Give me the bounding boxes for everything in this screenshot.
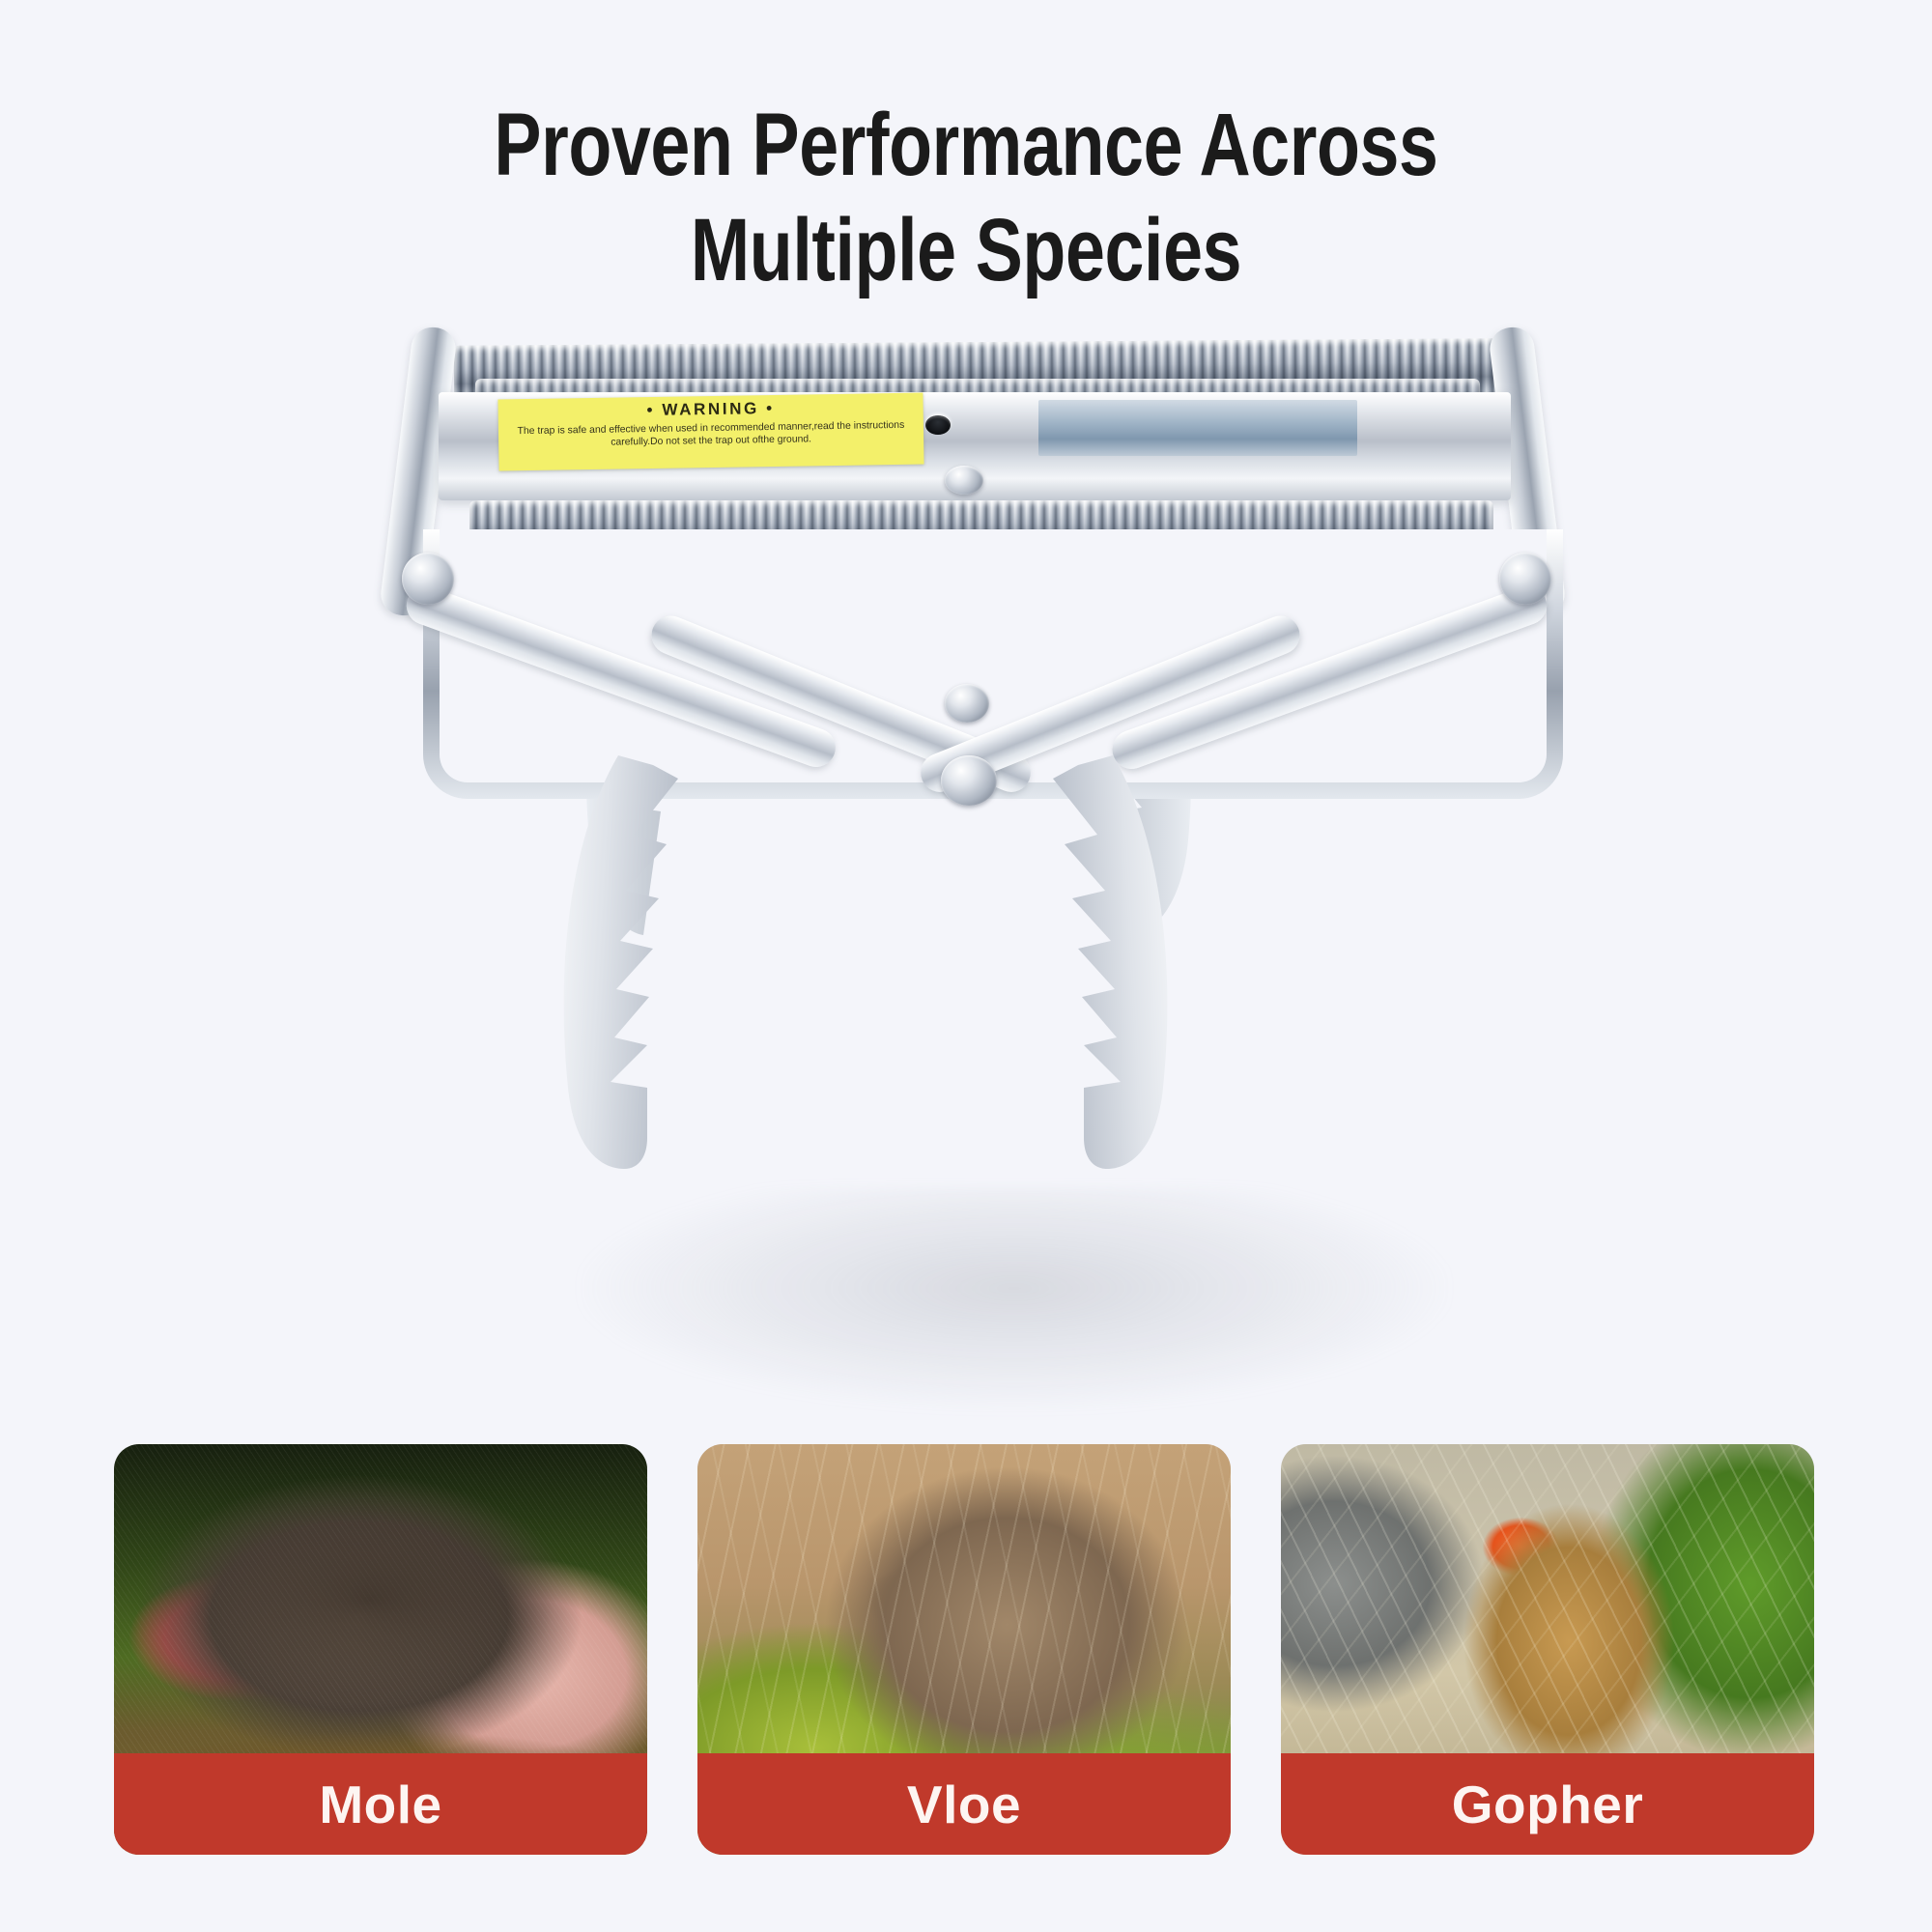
trap-jaw-front-right — [962, 755, 1184, 1171]
species-label-mole: Mole — [114, 1753, 647, 1855]
trap-rivet-right — [1499, 553, 1551, 605]
trap-setting-hole — [925, 415, 951, 435]
species-card-grid: Mole Vloe Gopher — [114, 1444, 1839, 1855]
warning-label-body: The trap is safe and effective when used… — [508, 418, 914, 451]
trap-top-bar-steel-patch — [1038, 400, 1357, 456]
species-card-gopher[interactable]: Gopher — [1281, 1444, 1814, 1855]
species-label-gopher: Gopher — [1281, 1753, 1814, 1855]
page-title: Proven Performance Across Multiple Speci… — [193, 93, 1739, 302]
warning-label-title: • WARNING • — [508, 398, 914, 422]
trap-rivet-center-upper — [945, 684, 989, 723]
species-card-mole[interactable]: Mole — [114, 1444, 647, 1855]
product-hero: • WARNING • The trap is safe and effecti… — [0, 319, 1932, 1430]
trap-jaw-front-left — [547, 755, 769, 1171]
trap-rivet-left — [402, 553, 454, 605]
trap-rivet-top-center — [945, 466, 983, 495]
mole-trap-illustration: • WARNING • The trap is safe and effecti… — [415, 319, 1536, 1343]
species-card-vole[interactable]: Vloe — [697, 1444, 1231, 1855]
species-label-vole: Vloe — [697, 1753, 1231, 1855]
warning-label: • WARNING • The trap is safe and effecti… — [497, 393, 923, 471]
